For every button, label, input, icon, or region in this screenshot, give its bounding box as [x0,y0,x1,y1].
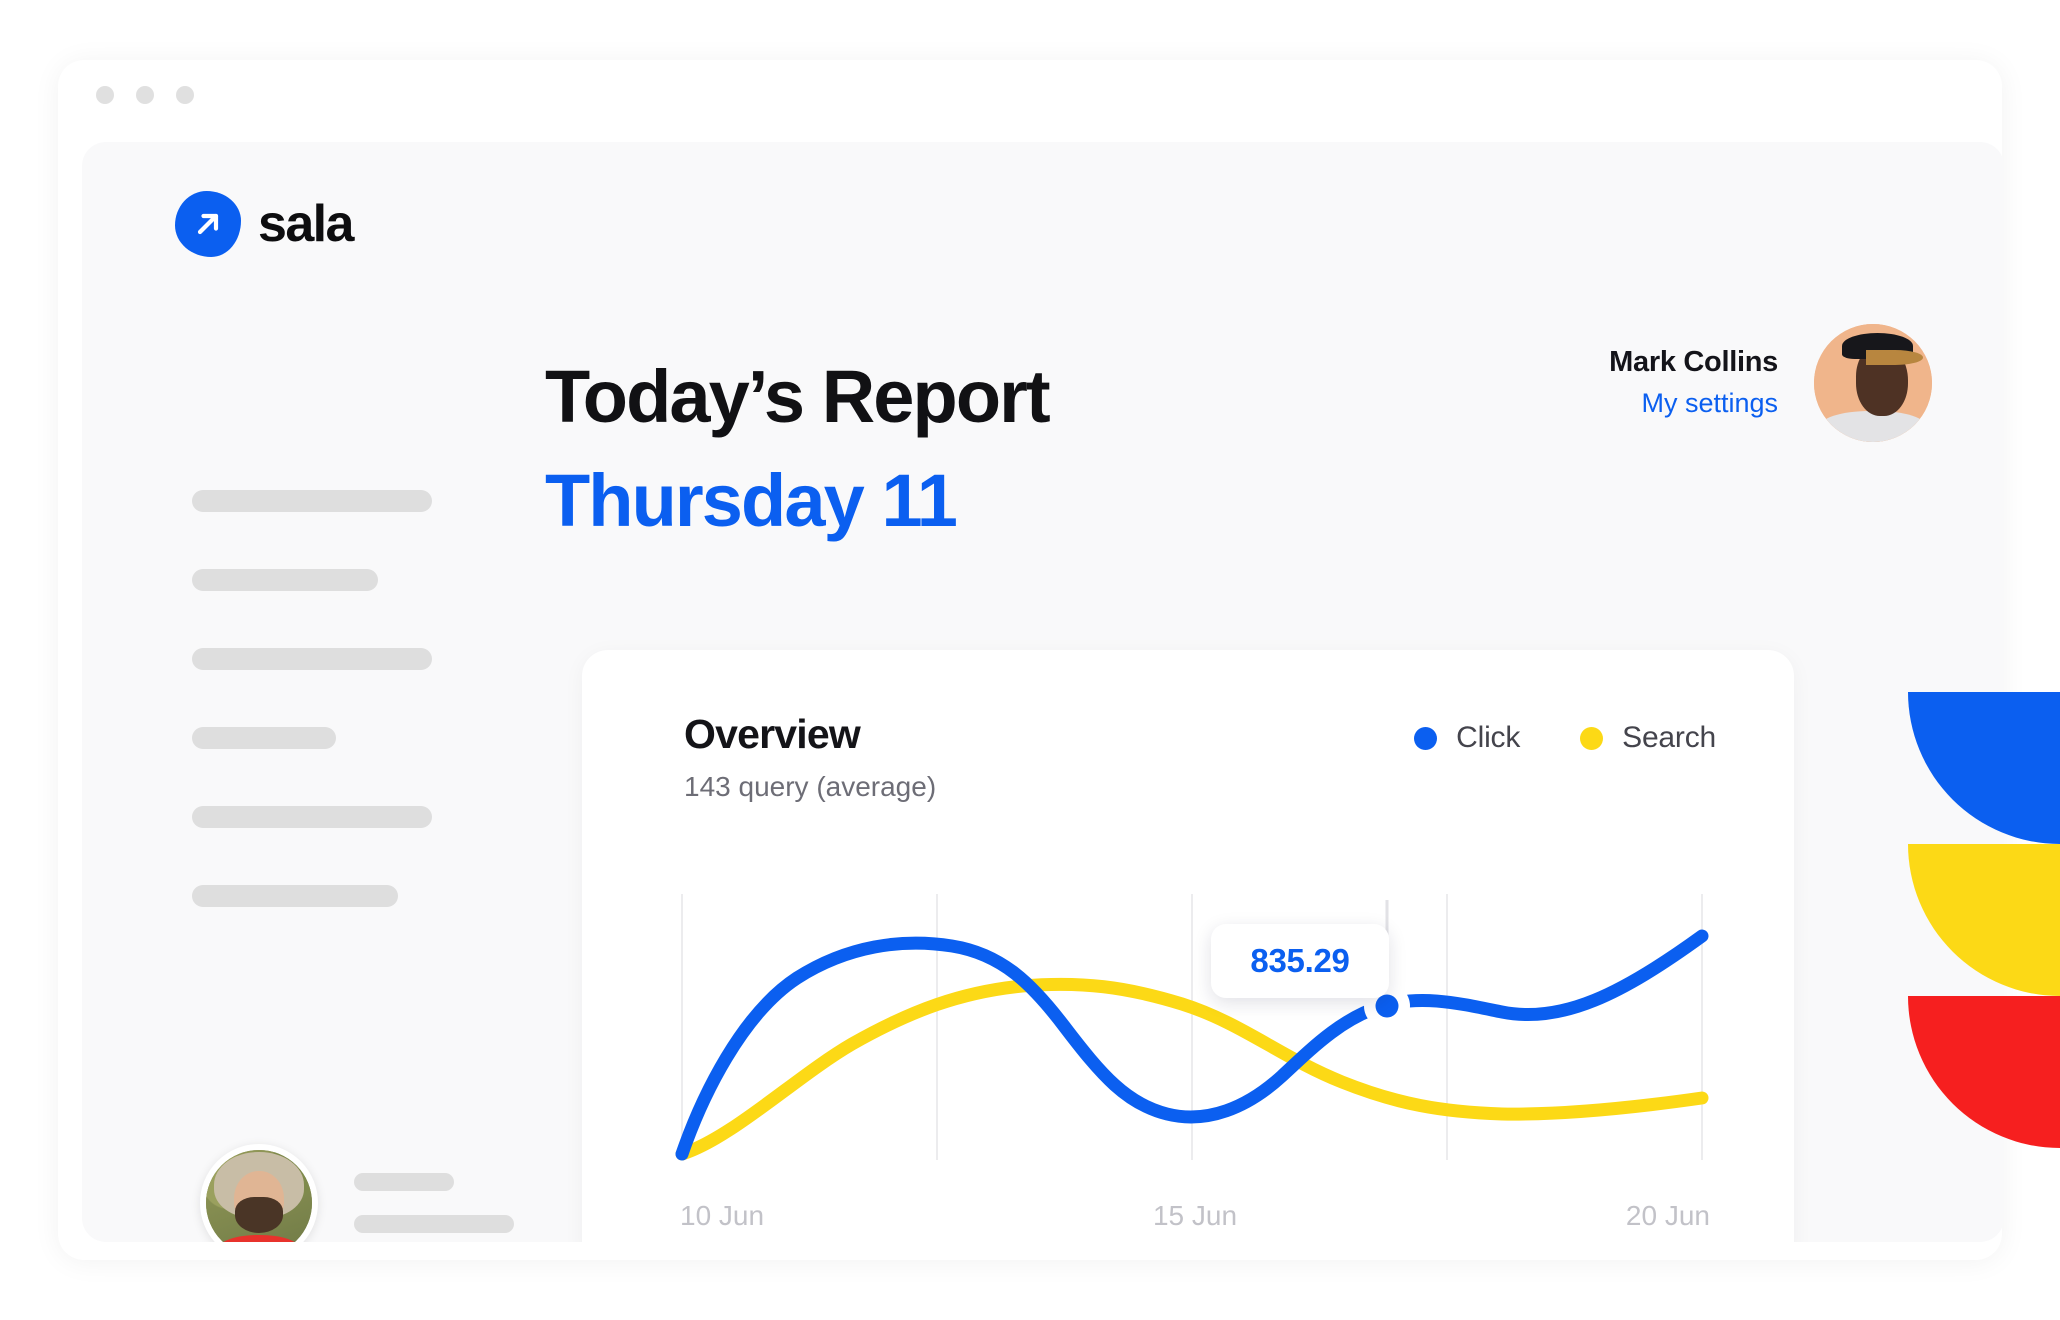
page-title: Today’s Report [545,360,1049,434]
brand-logo[interactable]: sala [175,191,353,257]
x-tick-label: 15 Jun [1153,1200,1237,1232]
page-subtitle-date: Thursday 11 [545,464,956,538]
avatar[interactable] [1814,324,1932,442]
legend-dot-icon [1580,727,1603,750]
quarter-circle-blue [1908,692,2060,844]
window-titlebar [58,60,2002,128]
account-text: Mark Collins My settings [1609,345,1778,421]
sidebar-item-placeholder[interactable] [192,569,378,591]
x-tick-label: 10 Jun [680,1200,764,1232]
sidebar-item-placeholder[interactable] [192,648,432,670]
arrow-up-right-icon [175,191,241,257]
app-window: sala [58,60,2002,1260]
quarter-circle-red [1908,996,2060,1148]
sidebar-item-placeholder[interactable] [192,727,336,749]
avatar [200,1144,318,1242]
account-menu[interactable]: Mark Collins My settings [1609,324,1932,442]
overview-chart-card: Overview 143 query (average) Click Searc… [582,650,1794,1242]
legend-item-search[interactable]: Search [1580,721,1716,755]
legend-dot-icon [1414,727,1437,750]
data-point-marker [1376,995,1399,1018]
sidebar: sala [82,142,472,1242]
chart-x-axis-labels: 10 Jun 15 Jun 20 Jun [680,1200,1710,1232]
chart-subtitle: 143 query (average) [684,772,936,803]
sidebar-user-name-placeholder [354,1173,454,1191]
legend-label: Click [1456,721,1520,755]
window-dot-minimize[interactable] [136,86,154,104]
decorative-shapes [1908,692,2060,1148]
x-tick-label: 20 Jun [1626,1200,1710,1232]
app-panel: sala [82,142,2004,1242]
chart-title: Overview [684,712,936,756]
chart-legend: Click Search [1414,721,1716,755]
sidebar-item-placeholder[interactable] [192,490,432,512]
window-dot-maximize[interactable] [176,86,194,104]
sidebar-user-skeleton [354,1173,514,1233]
chart-plot-area[interactable]: 835.29 [582,886,1794,1186]
card-header: Overview 143 query (average) Click Searc… [684,712,1716,803]
brand-name: sala [258,198,353,250]
legend-label: Search [1622,721,1716,755]
sidebar-item-placeholder[interactable] [192,806,432,828]
my-settings-link[interactable]: My settings [1609,386,1778,421]
sidebar-user-role-placeholder [354,1215,514,1233]
card-title-block: Overview 143 query (average) [684,712,936,803]
sidebar-item-placeholder[interactable] [192,885,398,907]
window-dot-close[interactable] [96,86,114,104]
tooltip-value: 835.29 [1250,942,1349,980]
chart-tooltip: 835.29 [1211,924,1389,998]
quarter-circle-yellow [1908,844,2060,996]
sidebar-user-profile[interactable] [200,1144,514,1242]
sidebar-nav-skeleton [192,490,432,964]
account-name: Mark Collins [1609,345,1778,380]
legend-item-click[interactable]: Click [1414,721,1520,755]
